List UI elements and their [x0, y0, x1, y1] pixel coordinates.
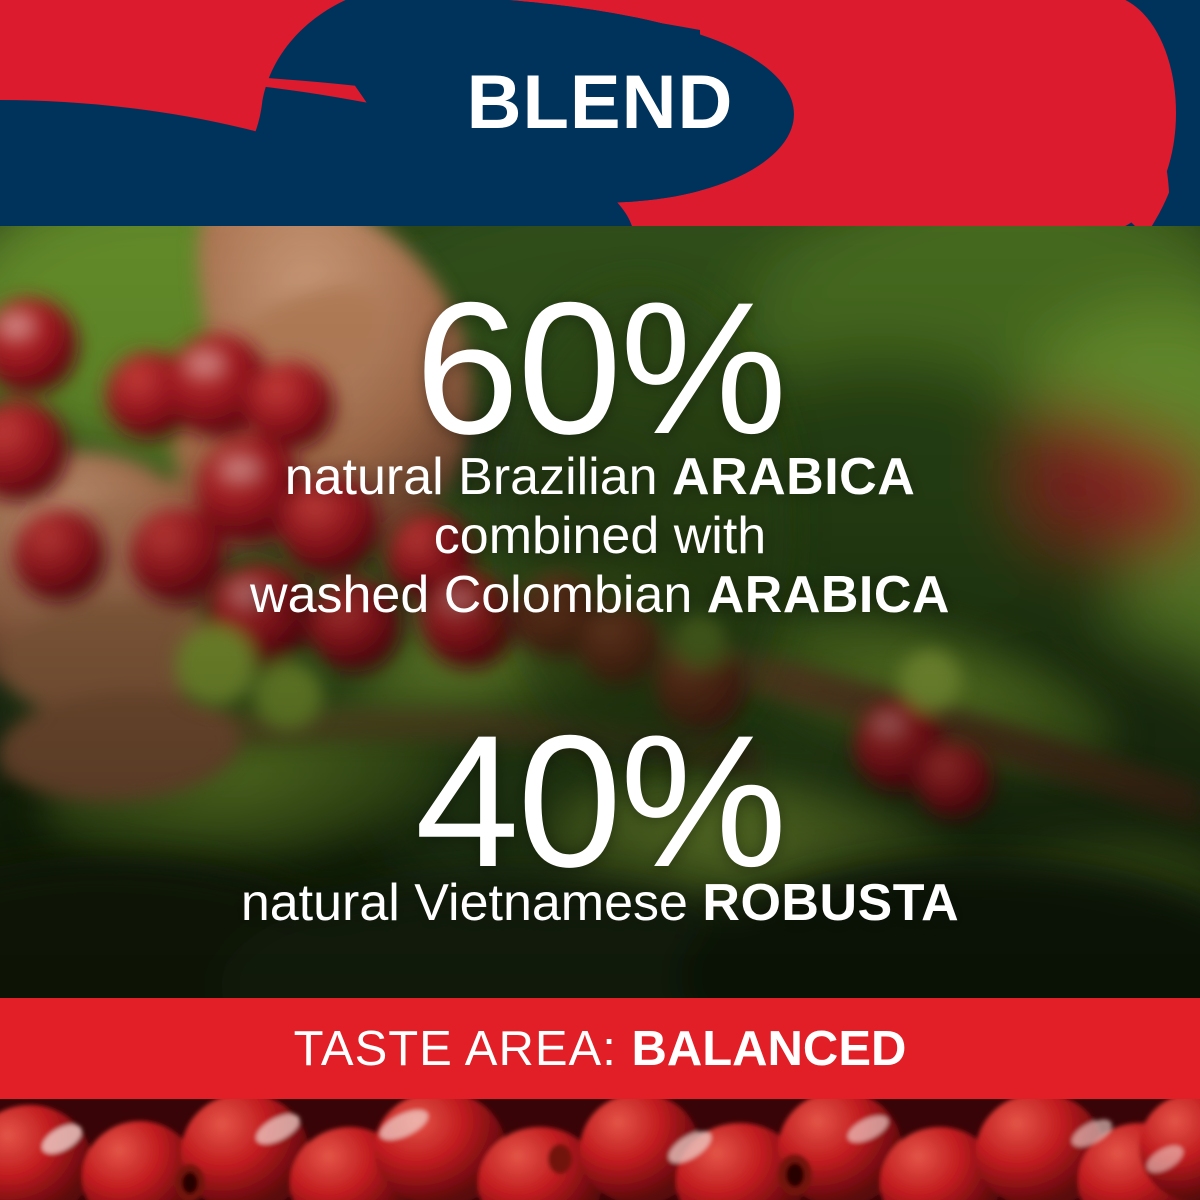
robusta-line-1: natural Vietnamese ROBUSTA [0, 874, 1200, 933]
arabica-line-3-plain: washed Colombian [250, 566, 707, 624]
page-title: BLEND [0, 63, 1200, 143]
bottom-cherry-illustration [0, 1099, 1200, 1200]
header-banner: BLEND [0, 0, 1200, 226]
blend-composition-copy: 60% natural Brazilian ARABICA combined w… [0, 226, 1200, 998]
taste-area-text: TASTE AREA: BALANCED [294, 1023, 907, 1075]
robusta-line-1-plain: natural Vietnamese [241, 874, 703, 932]
arabica-line-1-bold: ARABICA [672, 448, 915, 506]
arabica-line-2: combined with [0, 507, 1200, 566]
robusta-line-1-bold: ROBUSTA [702, 874, 959, 932]
arabica-description: natural Brazilian ARABICA combined with … [0, 448, 1200, 625]
arabica-line-3: washed Colombian ARABICA [0, 566, 1200, 625]
robusta-description: natural Vietnamese ROBUSTA [0, 874, 1200, 933]
percent-arabica: 60% [0, 274, 1200, 462]
arabica-line-2-plain: combined with [434, 507, 766, 565]
bottom-cherry-strip [0, 1099, 1200, 1200]
arabica-line-3-bold: ARABICA [707, 566, 950, 624]
cherry-strip-shade [0, 1099, 1200, 1200]
arabica-line-1: natural Brazilian ARABICA [0, 448, 1200, 507]
taste-area-banner: TASTE AREA: BALANCED [0, 998, 1200, 1099]
taste-area-label: TASTE AREA: [294, 1022, 632, 1076]
blend-product-poster: BLEND [0, 0, 1200, 1200]
percent-robusta: 40% [0, 707, 1200, 895]
arabica-line-1-plain: natural Brazilian [285, 448, 672, 506]
taste-area-value: BALANCED [631, 1022, 906, 1076]
